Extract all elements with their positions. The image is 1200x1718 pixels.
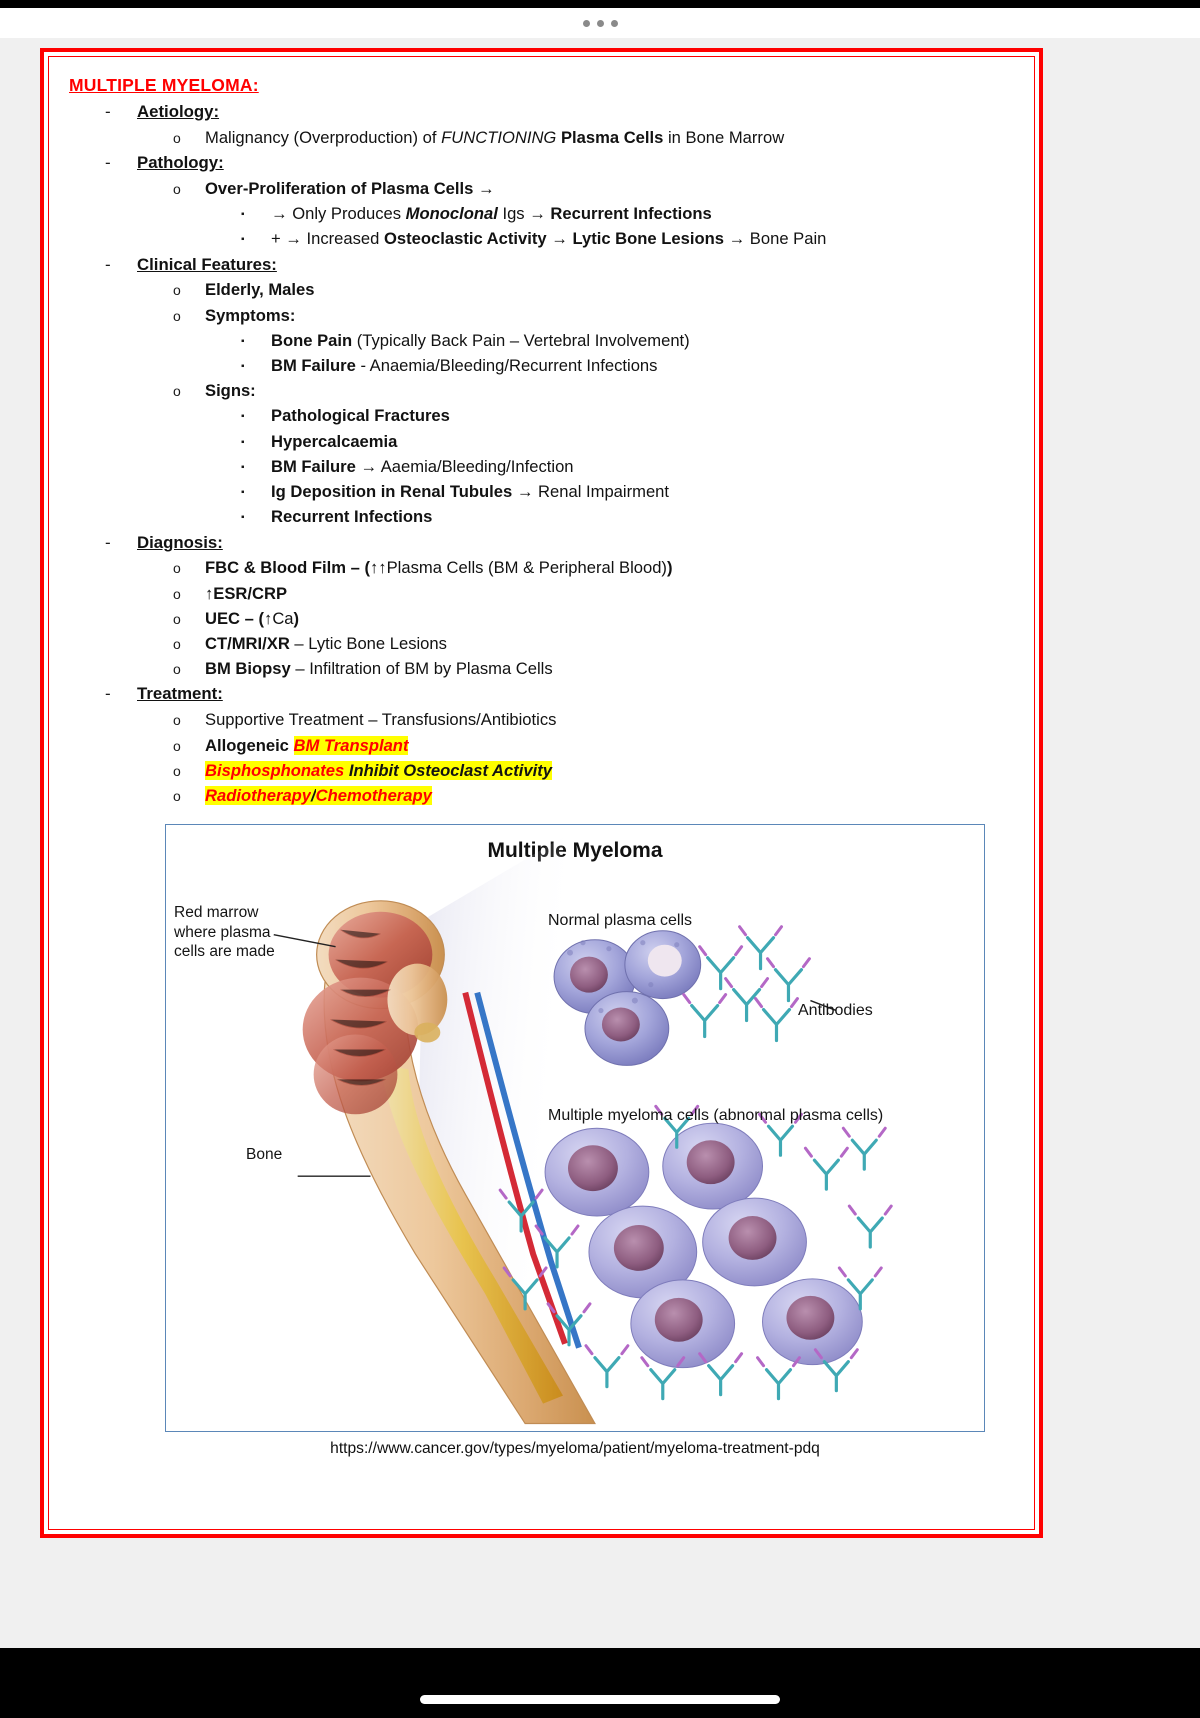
- square-bullet-icon: ▪: [241, 334, 271, 349]
- subheading-symptoms: Symptoms:: [205, 306, 295, 325]
- dx-imaging: CT/MRI/XR: [205, 634, 290, 653]
- circle-bullet-icon: o: [173, 384, 205, 398]
- section-heading-treatment: Treatment:: [137, 681, 223, 707]
- dx-uec: UEC – (↑: [205, 609, 272, 628]
- outline-content: MULTIPLE MYELOMA: - Aetiology: o Maligna…: [49, 57, 1034, 1458]
- device-frame: MULTIPLE MYELOMA: - Aetiology: o Maligna…: [0, 0, 1200, 1718]
- dash-bullet-icon: -: [105, 150, 137, 176]
- list-item: o ↑ESR/CRP: [173, 581, 1020, 606]
- list-item: o CT/MRI/XR – Lytic Bone Lesions: [173, 631, 1020, 656]
- list-item: o UEC – (↑Ca): [173, 606, 1020, 631]
- section-clinical-features: - Clinical Features:: [105, 252, 1020, 278]
- dx-fbc-blood-film: FBC & Blood Film – (↑↑: [205, 558, 387, 577]
- aetiology-text-2: in Bone Marrow: [663, 128, 784, 147]
- pathology-2c: Igs →: [498, 204, 551, 223]
- dx-uec-ca: Ca: [272, 609, 293, 628]
- status-bar: [0, 0, 1200, 8]
- dx-fbc-close: ): [667, 558, 673, 577]
- dot-icon-2: [597, 20, 604, 27]
- list-item: ▪ Bone Pain (Typically Back Pain – Verte…: [241, 328, 1020, 353]
- pathology-2a: → Only Produces: [271, 204, 406, 223]
- myeloma-diagram: Multiple Myeloma: [165, 824, 985, 1432]
- sign-bm-failure-detail: → Aaemia/Bleeding/Infection: [356, 457, 574, 476]
- dx-uec-close: ): [294, 609, 300, 628]
- circle-bullet-icon: o: [173, 587, 205, 601]
- list-item: ▪ → Only Produces Monoclonal Igs → Recur…: [241, 201, 1020, 226]
- circle-bullet-icon: o: [173, 637, 205, 651]
- dash-bullet-icon: -: [105, 681, 137, 707]
- circle-bullet-icon: o: [173, 283, 205, 297]
- square-bullet-icon: ▪: [241, 359, 271, 374]
- symptom-bm-failure-detail: - Anaemia/Bleeding/Recurrent Infections: [356, 356, 658, 375]
- dx-imaging-detail: – Lytic Bone Lesions: [290, 634, 447, 653]
- symptom-bone-pain: Bone Pain: [271, 331, 352, 350]
- tx-bisphosphonates-detail: Inhibit Osteoclast Activity: [344, 761, 552, 780]
- list-item: o Supportive Treatment – Transfusions/An…: [173, 707, 1020, 732]
- square-bullet-icon: ▪: [241, 510, 271, 525]
- dx-fbc-detail: Plasma Cells (BM & Peripheral Blood): [387, 558, 667, 577]
- pathology-3a: + → Increased: [271, 229, 384, 248]
- list-item: o Radiotherapy/Chemotherapy: [173, 783, 1020, 808]
- list-item: o Symptoms:: [173, 303, 1020, 328]
- section-heading-clinical-features: Clinical Features:: [137, 252, 277, 278]
- circle-bullet-icon: o: [173, 309, 205, 323]
- sign-ig-deposition-detail: → Renal Impairment: [512, 482, 669, 501]
- dot-icon-3: [611, 20, 618, 27]
- list-item: ▪ BM Failure → Aaemia/Bleeding/Infection: [241, 454, 1020, 479]
- circle-bullet-icon: o: [173, 182, 205, 196]
- figure-label-bone: Bone: [246, 1145, 282, 1164]
- pathology-recurrent-infections: Recurrent Infections: [550, 204, 711, 223]
- list-item: ▪ Pathological Fractures: [241, 403, 1020, 428]
- figure-label-red-marrow: Red marrow where plasma cells are made: [174, 903, 275, 961]
- figure-label-antibodies: Antibodies: [798, 1001, 873, 1021]
- device-bottom-bezel: [0, 1648, 1200, 1718]
- list-item: ▪ Recurrent Infections: [241, 504, 1020, 529]
- list-item: o Elderly, Males: [173, 277, 1020, 302]
- note-page-inner: MULTIPLE MYELOMA: - Aetiology: o Maligna…: [48, 56, 1035, 1530]
- clinical-elderly-males: Elderly, Males: [205, 280, 314, 299]
- sign-bm-failure: BM Failure: [271, 457, 356, 476]
- pathology-lytic-lesions: Lytic Bone Lesions: [572, 229, 724, 248]
- list-item: o Allogeneic BM Transplant: [173, 733, 1020, 758]
- circle-bullet-icon: o: [173, 789, 205, 803]
- sign-ig-deposition: Ig Deposition in Renal Tubules: [271, 482, 512, 501]
- section-aetiology: - Aetiology:: [105, 99, 1020, 125]
- pathology-3e: → Bone Pain: [724, 229, 826, 248]
- list-item: ▪ BM Failure - Anaemia/Bleeding/Recurren…: [241, 353, 1020, 378]
- circle-bullet-icon: o: [173, 662, 205, 676]
- section-heading-pathology: Pathology:: [137, 150, 224, 176]
- square-bullet-icon: ▪: [241, 207, 271, 222]
- list-item: o Over-Proliferation of Plasma Cells →: [173, 176, 1020, 201]
- dash-bullet-icon: -: [105, 99, 137, 125]
- square-bullet-icon: ▪: [241, 435, 271, 450]
- tx-radiotherapy-highlight: Radiotherapy: [205, 786, 311, 805]
- pathology-line-1: Over-Proliferation of Plasma Cells →: [205, 179, 495, 198]
- list-item: o BM Biopsy – Infiltration of BM by Plas…: [173, 656, 1020, 681]
- square-bullet-icon: ▪: [241, 409, 271, 424]
- circle-bullet-icon: o: [173, 764, 205, 778]
- figure-container: Multiple Myeloma: [165, 824, 985, 1458]
- list-item: o Bisphosphonates Inhibit Osteoclast Act…: [173, 758, 1020, 783]
- sign-hypercalcaemia: Hypercalcaemia: [271, 432, 397, 451]
- page-title: MULTIPLE MYELOMA:: [69, 75, 1020, 96]
- app-dots-bar[interactable]: [0, 8, 1200, 38]
- document-canvas[interactable]: MULTIPLE MYELOMA: - Aetiology: o Maligna…: [0, 38, 1200, 1648]
- dash-bullet-icon: -: [105, 530, 137, 556]
- sign-recurrent-infections: Recurrent Infections: [271, 507, 432, 526]
- aetiology-functioning: FUNCTIONING: [441, 128, 556, 147]
- list-item: ▪ Hypercalcaemia: [241, 429, 1020, 454]
- aetiology-text-1: Malignancy (Overproduction) of: [205, 128, 441, 147]
- pathology-monoclonal: Monoclonal: [406, 204, 498, 223]
- tx-supportive: Supportive Treatment – Transfusions/Anti…: [205, 707, 556, 732]
- square-bullet-icon: ▪: [241, 460, 271, 475]
- tx-bisphosphonates-highlight: Bisphosphonates: [205, 761, 344, 780]
- list-item: ▪ + → Increased Osteoclastic Activity → …: [241, 226, 1020, 251]
- tx-allogeneic: Allogeneic: [205, 736, 294, 755]
- section-pathology: - Pathology:: [105, 150, 1020, 176]
- section-heading-aetiology: Aetiology:: [137, 99, 219, 125]
- note-page: MULTIPLE MYELOMA: - Aetiology: o Maligna…: [40, 48, 1043, 1538]
- circle-bullet-icon: o: [173, 131, 205, 145]
- dx-esr-crp: ↑ESR/CRP: [205, 584, 287, 603]
- symptom-bone-pain-detail: (Typically Back Pain – Vertebral Involve…: [352, 331, 690, 350]
- circle-bullet-icon: o: [173, 713, 205, 727]
- sign-pathological-fractures: Pathological Fractures: [271, 406, 450, 425]
- section-diagnosis: - Diagnosis:: [105, 530, 1020, 556]
- subheading-signs: Signs:: [205, 381, 256, 400]
- figure-label-myeloma-cells: Multiple myeloma cells (abnormal plasma …: [548, 1106, 883, 1126]
- list-item: ▪ Ig Deposition in Renal Tubules → Renal…: [241, 479, 1020, 504]
- dot-icon-1: [583, 20, 590, 27]
- list-item: o FBC & Blood Film – (↑↑Plasma Cells (BM…: [173, 555, 1020, 580]
- list-item: o Malignancy (Overproduction) of FUNCTIO…: [173, 125, 1020, 150]
- home-indicator[interactable]: [420, 1695, 780, 1704]
- pathology-osteoclastic: Osteoclastic Activity: [384, 229, 547, 248]
- dx-bm-biopsy-detail: – Infiltration of BM by Plasma Cells: [291, 659, 553, 678]
- tx-bm-transplant-highlight: BM Transplant: [294, 736, 409, 755]
- section-treatment: - Treatment:: [105, 681, 1020, 707]
- tx-chemotherapy-highlight: Chemotherapy: [316, 786, 432, 805]
- dash-bullet-icon: -: [105, 252, 137, 278]
- tx-slash: /: [311, 786, 316, 805]
- figure-caption-url: https://www.cancer.gov/types/myeloma/pat…: [165, 1440, 985, 1458]
- square-bullet-icon: ▪: [241, 485, 271, 500]
- section-heading-diagnosis: Diagnosis:: [137, 530, 223, 556]
- circle-bullet-icon: o: [173, 612, 205, 626]
- circle-bullet-icon: o: [173, 739, 205, 753]
- pathology-3c: →: [547, 229, 573, 248]
- aetiology-plasma-cells: Plasma Cells: [561, 128, 663, 147]
- figure-label-normal-plasma-cells: Normal plasma cells: [548, 911, 692, 931]
- circle-bullet-icon: o: [173, 561, 205, 575]
- dx-bm-biopsy: BM Biopsy: [205, 659, 291, 678]
- square-bullet-icon: ▪: [241, 232, 271, 247]
- list-item: o Signs:: [173, 378, 1020, 403]
- symptom-bm-failure: BM Failure: [271, 356, 356, 375]
